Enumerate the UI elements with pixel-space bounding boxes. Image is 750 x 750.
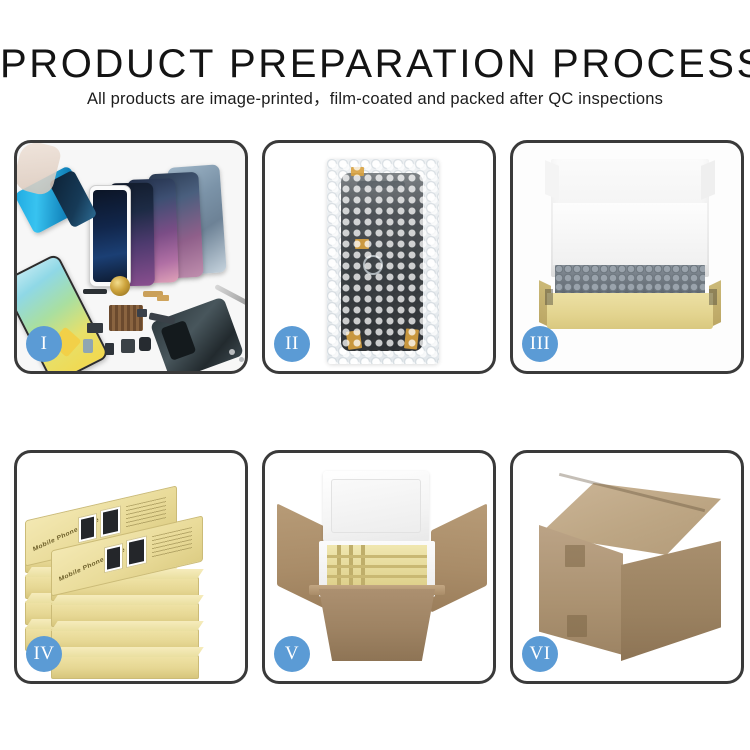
step-badge-3: III bbox=[522, 326, 558, 362]
step-badge-1: I bbox=[26, 326, 62, 362]
step-3-panel: III bbox=[510, 140, 744, 374]
process-step-grid: I II bbox=[14, 140, 736, 688]
step-4-panel: Mobile Phone Spare Parts Mobil bbox=[14, 450, 248, 684]
step-badge-4: IV bbox=[26, 636, 62, 672]
speaker-part bbox=[110, 276, 130, 296]
inner-boxes-packed bbox=[327, 545, 427, 587]
box-phone-image-2 bbox=[100, 505, 121, 538]
box-tab-left bbox=[545, 289, 553, 305]
box-phone-image-1 bbox=[104, 543, 123, 573]
component-1 bbox=[87, 323, 103, 333]
component-7 bbox=[157, 295, 169, 301]
product-preparation-infographic: PRODUCT PREPARATION PROCESS All products… bbox=[0, 0, 750, 750]
bubble-texture-overlay bbox=[327, 159, 439, 364]
step-badge-6: VI bbox=[522, 636, 558, 672]
bubble-wrap-bag bbox=[327, 159, 439, 364]
box-spec-lines bbox=[126, 497, 166, 528]
bubble-wrap-contents bbox=[555, 265, 705, 295]
process-step-5: V bbox=[262, 450, 496, 684]
phone-housing-part bbox=[150, 297, 245, 371]
box-phone-image-1 bbox=[78, 513, 97, 543]
box-tab-right bbox=[709, 289, 717, 305]
component-5 bbox=[139, 337, 151, 351]
process-step-1: I bbox=[14, 140, 248, 374]
page-subtitle: All products are image-printed，film-coat… bbox=[0, 88, 750, 110]
box-phone-image-2 bbox=[126, 535, 147, 568]
process-step-3: III bbox=[510, 140, 744, 374]
step-1-panel: I bbox=[14, 140, 248, 374]
page-title: PRODUCT PREPARATION PROCESS bbox=[0, 42, 750, 86]
carton-right-face bbox=[621, 541, 721, 661]
component-6 bbox=[137, 309, 147, 317]
carton-front bbox=[311, 589, 443, 661]
screw-2 bbox=[239, 357, 244, 362]
process-step-4: Mobile Phone Spare Parts Mobil bbox=[14, 450, 248, 684]
screw-1 bbox=[229, 349, 235, 355]
process-step-6: VI bbox=[510, 450, 744, 684]
step-badge-2: II bbox=[274, 326, 310, 362]
carton-flap-right bbox=[431, 503, 487, 612]
component-4 bbox=[121, 339, 135, 353]
process-step-2: II bbox=[262, 140, 496, 374]
component-3 bbox=[105, 343, 114, 355]
stacked-box bbox=[51, 655, 199, 679]
box-spec-lines bbox=[152, 527, 192, 558]
box-front-panel bbox=[547, 293, 713, 329]
step-2-panel: II bbox=[262, 140, 496, 374]
carton-tape-1 bbox=[565, 545, 585, 567]
step-5-panel: V bbox=[262, 450, 496, 684]
foam-sheet bbox=[553, 203, 707, 265]
foam-lid-open bbox=[323, 471, 429, 543]
step-badge-5: V bbox=[274, 636, 310, 672]
flex-cable-1 bbox=[83, 289, 107, 294]
carton-tape-2 bbox=[567, 615, 587, 637]
step-6-panel: VI bbox=[510, 450, 744, 684]
screen-protector bbox=[89, 185, 131, 287]
component-2 bbox=[83, 339, 93, 353]
